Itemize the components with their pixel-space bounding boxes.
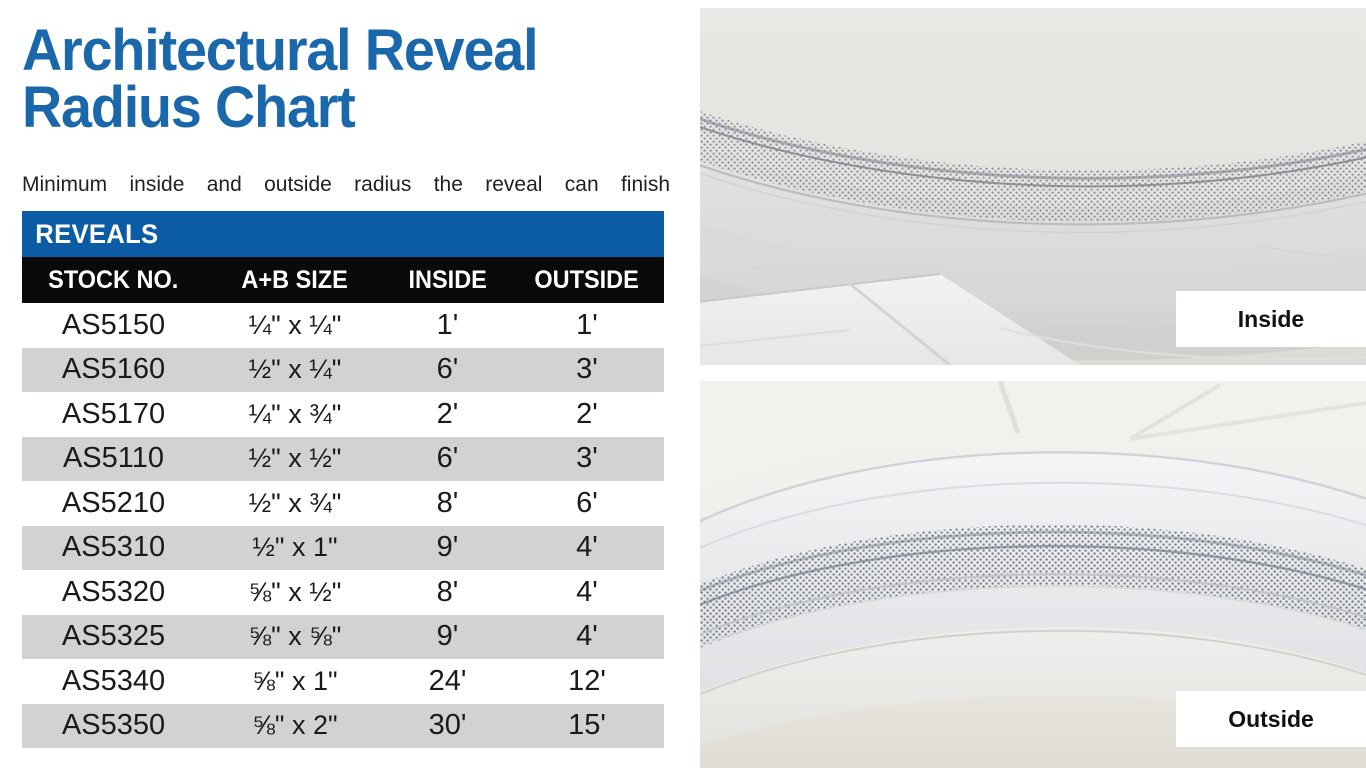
cell-stock-no: AS5150 (22, 303, 205, 348)
cell-ab-size: ½" x ½" (205, 437, 385, 482)
cell-inside: 1' (385, 303, 510, 348)
cell-inside: 9' (385, 526, 510, 571)
cell-stock-no: AS5310 (22, 526, 205, 571)
cell-ab-size: ¼" x ¾" (205, 392, 385, 437)
cell-stock-no: AS5320 (22, 570, 205, 615)
column-header-ab-size: A+B SIZE (205, 257, 385, 303)
table-row: AS5210 ½" x ¾" 8' 6' (22, 481, 664, 526)
photo-caption-outside-label: Outside (1228, 706, 1314, 733)
table-row: AS5325 ⅝" x ⅝" 9' 4' (22, 615, 664, 660)
cell-inside: 24' (385, 659, 510, 704)
photo-caption-outside: Outside (1176, 691, 1366, 747)
table-row: AS5110 ½" x ½" 6' 3' (22, 437, 664, 482)
cell-outside: 6' (510, 481, 664, 526)
cell-outside: 12' (510, 659, 664, 704)
table-row: AS5150 ¼" x ¼" 1' 1' (22, 303, 664, 348)
column-header-stock-no: STOCK NO. (22, 257, 205, 303)
table-row: AS5170 ¼" x ¾" 2' 2' (22, 392, 664, 437)
cell-inside: 6' (385, 348, 510, 393)
cell-inside: 6' (385, 437, 510, 482)
cell-stock-no: AS5350 (22, 704, 205, 749)
column-header-outside: OUTSIDE (510, 257, 664, 303)
cell-ab-size: ½" x ¾" (205, 481, 385, 526)
cell-outside: 4' (510, 526, 664, 571)
cell-ab-size: ¼" x ¼" (205, 303, 385, 348)
cell-stock-no: AS5340 (22, 659, 205, 704)
cell-outside: 4' (510, 615, 664, 660)
cell-stock-no: AS5325 (22, 615, 205, 660)
cell-inside: 30' (385, 704, 510, 749)
cell-outside: 2' (510, 392, 664, 437)
table-row: AS5320 ⅝" x ½" 8' 4' (22, 570, 664, 615)
cell-stock-no: AS5160 (22, 348, 205, 393)
page-title: Architectural Reveal Radius Chart (22, 22, 646, 137)
table-group-label: REVEALS (22, 219, 158, 250)
table-row: AS5350 ⅝" x 2" 30' 15' (22, 704, 664, 749)
table-row: AS5340 ⅝" x 1" 24' 12' (22, 659, 664, 704)
reveal-radius-table: REVEALS STOCK NO. A+B SIZE INSIDE OUTSID… (22, 211, 664, 748)
cell-ab-size: ⅝" x 2" (205, 704, 385, 749)
chart-panel: Architectural Reveal Radius Chart Minimu… (0, 0, 690, 768)
cell-inside: 8' (385, 570, 510, 615)
cell-outside: 15' (510, 704, 664, 749)
cell-stock-no: AS5210 (22, 481, 205, 526)
page-subtitle: Minimum inside and outside radius the re… (22, 174, 670, 196)
cell-stock-no: AS5110 (22, 437, 205, 482)
cell-ab-size: ½" x 1" (205, 526, 385, 571)
cell-outside: 3' (510, 437, 664, 482)
cell-ab-size: ⅝" x 1" (205, 659, 385, 704)
cell-outside: 3' (510, 348, 664, 393)
cell-outside: 4' (510, 570, 664, 615)
photo-caption-inside-label: Inside (1238, 306, 1304, 333)
cell-inside: 9' (385, 615, 510, 660)
table-group-band: REVEALS (22, 211, 664, 257)
cell-inside: 8' (385, 481, 510, 526)
table-row: AS5160 ½" x ¼" 6' 3' (22, 348, 664, 393)
table-body: AS5150 ¼" x ¼" 1' 1' AS5160 ½" x ¼" 6' 3… (22, 303, 664, 748)
cell-ab-size: ½" x ¼" (205, 348, 385, 393)
cell-inside: 2' (385, 392, 510, 437)
cell-outside: 1' (510, 303, 664, 348)
table-header-row: STOCK NO. A+B SIZE INSIDE OUTSIDE (22, 257, 664, 303)
photo-caption-inside: Inside (1176, 291, 1366, 347)
table-row: AS5310 ½" x 1" 9' 4' (22, 526, 664, 571)
cell-ab-size: ⅝" x ½" (205, 570, 385, 615)
cell-ab-size: ⅝" x ⅝" (205, 615, 385, 660)
cell-stock-no: AS5170 (22, 392, 205, 437)
radius-data-table: STOCK NO. A+B SIZE INSIDE OUTSIDE AS5150… (22, 257, 664, 748)
column-header-inside: INSIDE (385, 257, 510, 303)
